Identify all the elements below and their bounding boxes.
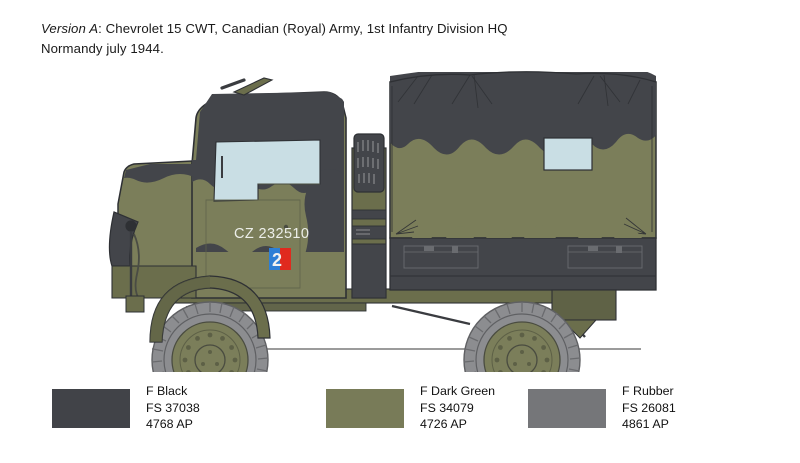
legend-text-f-rubber: F Rubber FS 26081 4861 AP (622, 383, 676, 433)
registration-marking: CZ 232510 (234, 226, 309, 242)
unit-insignia: 2 (269, 248, 291, 270)
legend-name-2: F Rubber (622, 383, 676, 400)
swatch-f-rubber (528, 389, 606, 428)
legend-code-1: 4726 AP (420, 416, 495, 433)
rear-underbody (552, 290, 616, 320)
vehicle-illustration: CZ 232510 2 (0, 52, 800, 372)
legend-name-1: F Dark Green (420, 383, 495, 400)
legend-fs-1: FS 34079 (420, 400, 495, 417)
canvas-window (544, 138, 592, 170)
vehicle-svg: CZ 232510 2 (0, 52, 800, 372)
paint-legend: F Black FS 37038 4768 AP F Dark Green FS… (0, 383, 800, 447)
front-wheel (152, 302, 268, 372)
legend-code-0: 4768 AP (146, 416, 200, 433)
legend-name-0: F Black (146, 383, 200, 400)
legend-code-2: 4861 AP (622, 416, 676, 433)
caption-line1: Chevrolet 15 CWT, Canadian (Royal) Army,… (106, 21, 508, 36)
roof-antenna-bar (222, 80, 244, 88)
front-hub (195, 345, 225, 372)
illustration-page: Version A: Chevrolet 15 CWT, Canadian (R… (0, 0, 800, 463)
legend-fs-0: FS 37038 (146, 400, 200, 417)
insignia-number: 2 (272, 250, 282, 270)
rear-hub (507, 345, 537, 372)
cab-assembly: CZ 232510 2 (109, 78, 348, 312)
version-label: Version A (41, 21, 98, 36)
swatch-f-dark-green (326, 389, 404, 428)
swatch-f-black (52, 389, 130, 428)
legend-text-f-dark-green: F Dark Green FS 34079 4726 AP (420, 383, 495, 433)
legend-text-f-black: F Black FS 37038 4768 AP (146, 383, 200, 433)
legend-fs-2: FS 26081 (622, 400, 676, 417)
spare-wheel-column (352, 134, 386, 298)
caption-separator: : (98, 21, 106, 36)
